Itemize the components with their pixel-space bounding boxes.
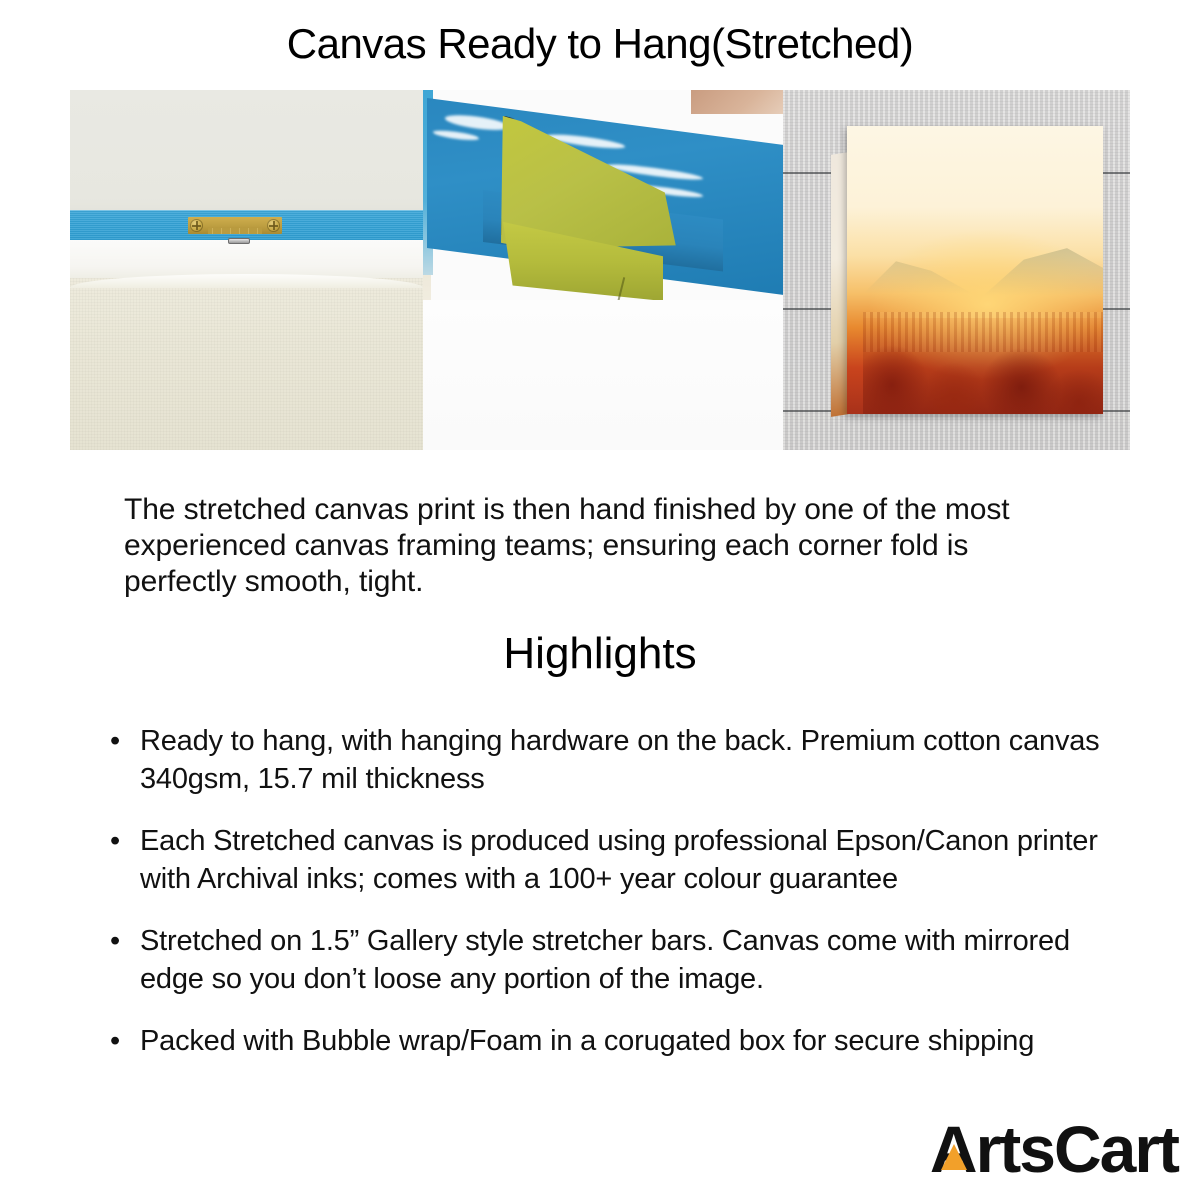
photo1-hanger-teeth [208, 228, 262, 234]
photo3-canvas-printed-face [847, 126, 1103, 414]
brand-logo: ArtsCart [930, 1114, 1178, 1184]
product-info-page: Canvas Ready to Hang(Stretched) [0, 0, 1200, 1200]
photo3-canvas-frame [831, 126, 1103, 414]
photo1-canvas-surface [70, 274, 423, 450]
intro-paragraph: The stretched canvas print is then hand … [124, 492, 1064, 600]
photo3-hill-right [983, 244, 1103, 296]
list-item: • Stretched on 1.5” Gallery style stretc… [108, 922, 1118, 998]
highlights-heading: Highlights [0, 627, 1200, 681]
photo1-metal-clip [228, 238, 250, 244]
bullet-icon: • [110, 1022, 120, 1060]
photo1-sawtooth-hanger [188, 217, 282, 234]
triangle-accent-icon [941, 1144, 967, 1170]
highlights-list: • Ready to hang, with hanging hardware o… [108, 722, 1118, 1084]
product-image-gallery [70, 90, 1130, 450]
photo2-tan-corner [691, 90, 783, 114]
gallery-image-canvas-back-hanging-hardware [70, 90, 423, 450]
brand-wordmark: ArtsCart [930, 1114, 1178, 1184]
list-item-text: Packed with Bubble wrap/Foam in a coruga… [140, 1025, 1034, 1057]
photo1-hanger-screw-right [267, 219, 280, 232]
list-item-text: Stretched on 1.5” Gallery style stretche… [140, 925, 1070, 995]
bullet-icon: • [110, 822, 120, 860]
photo3-hill-left [863, 254, 973, 294]
page-title: Canvas Ready to Hang(Stretched) [0, 18, 1200, 70]
gallery-image-canvas-corner-fold [423, 90, 783, 450]
photo1-white-band [70, 240, 423, 278]
photo1-hanger-screw-left [190, 219, 203, 232]
photo2-white-surface [423, 300, 783, 450]
gallery-image-stretched-canvas-on-wall [783, 90, 1130, 450]
bullet-icon: • [110, 922, 120, 960]
photo2-cloud-wisp [433, 129, 479, 142]
list-item: • Each Stretched canvas is produced usin… [108, 822, 1118, 898]
list-item: • Ready to hang, with hanging hardware o… [108, 722, 1118, 798]
photo3-foreground-foliage [863, 318, 1103, 414]
list-item: • Packed with Bubble wrap/Foam in a coru… [108, 1022, 1118, 1060]
list-item-text: Each Stretched canvas is produced using … [140, 825, 1098, 895]
list-item-text: Ready to hang, with hanging hardware on … [140, 725, 1099, 795]
bullet-icon: • [110, 722, 120, 760]
photo2-cloud-wisp [445, 112, 509, 132]
